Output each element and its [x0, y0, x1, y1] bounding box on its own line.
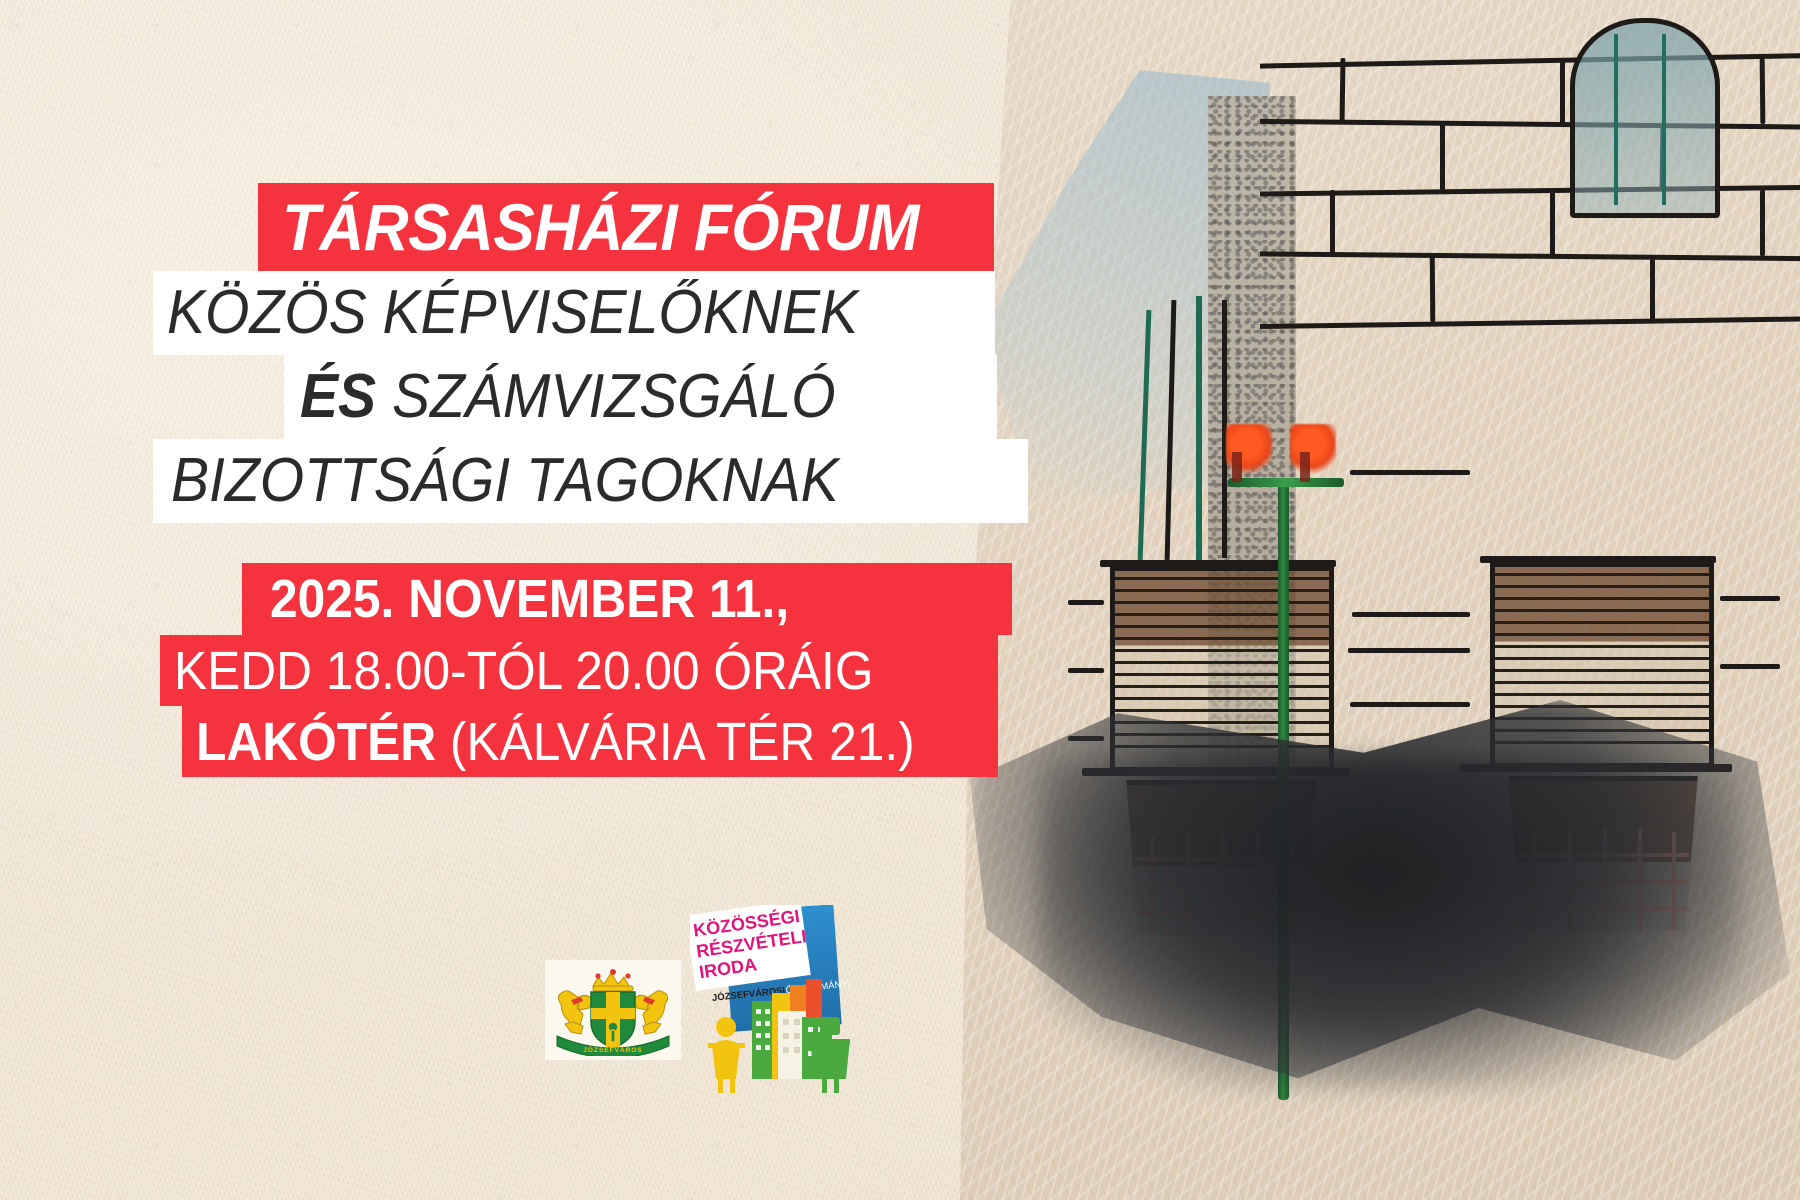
logo-row: JÓZSEFVÁROS KÖZ	[545, 905, 845, 1095]
jozsefvaros-crest-logo: JÓZSEFVÁROS	[545, 960, 681, 1060]
time-text: KEDD 18.00-TÓL 20.00 ÓRÁIG	[174, 644, 874, 698]
flower-pot-right	[1300, 452, 1310, 482]
crest-ribbon-text: JÓZSEFVÁROS	[583, 1045, 642, 1054]
subtitle-line-2-rest: SZÁMVIZSGÁLÓ	[376, 362, 836, 431]
time-banner: KEDD 18.00-TÓL 20.00 ÓRÁIG	[160, 635, 998, 706]
subtitle-line-3: BIZOTTSÁGI TAGOKNAK	[171, 450, 839, 512]
facade-stroke	[1350, 470, 1470, 475]
kri-logo: KÖZÖSSÉGI RÉSZVÉTELI IRODA JÓZSEFVÁROSI …	[690, 905, 850, 1095]
subtitle-line-2-bold: ÉS	[300, 362, 376, 431]
charcoal-smudge-core	[1040, 760, 1740, 1090]
date-text: 2025. NOVEMBER 11.,	[270, 572, 789, 626]
venue-address: (KÁLVÁRIA TÉR 21.)	[436, 712, 915, 772]
subtitle-line-1: KÖZÖS KÉPVISELŐKNEK	[167, 282, 858, 344]
facade-stroke	[1348, 648, 1470, 653]
facade-stroke	[1352, 612, 1470, 617]
facade-stroke	[1720, 664, 1780, 669]
venue-name: LAKÓTÉR	[196, 712, 436, 772]
poster-canvas: TÁRSASHÁZI FÓRUM KÖZÖS KÉPVISELŐKNEK ÉS …	[0, 0, 1800, 1200]
subtitle-banner-3: BIZOTTSÁGI TAGOKNAK	[153, 439, 1028, 523]
venue-text: LAKÓTÉR (KÁLVÁRIA TÉR 21.)	[196, 715, 915, 769]
window-mullion	[1196, 296, 1202, 562]
facade-stroke	[1350, 702, 1470, 707]
facade-stroke	[1068, 668, 1104, 673]
subtitle-line-2: ÉS SZÁMVIZSGÁLÓ	[300, 366, 836, 428]
flower-pot-left	[1232, 452, 1242, 482]
arched-window	[1570, 18, 1720, 218]
subtitle-banner-1: KÖZÖS KÉPVISELŐKNEK	[153, 271, 995, 355]
facade-stroke	[1720, 596, 1780, 601]
crest-icon: JÓZSEFVÁROS	[551, 964, 675, 1056]
headline-banner: TÁRSASHÁZI FÓRUM	[258, 183, 994, 271]
building-facade-illustration	[960, 0, 1800, 1200]
headline-text: TÁRSASHÁZI FÓRUM	[282, 194, 919, 260]
red-geranium-right	[1290, 424, 1336, 474]
venue-banner: LAKÓTÉR (KÁLVÁRIA TÉR 21.)	[182, 706, 998, 777]
date-banner: 2025. NOVEMBER 11.,	[242, 563, 1012, 635]
facade-stroke	[1068, 600, 1104, 605]
subtitle-banner-2: ÉS SZÁMVIZSGÁLÓ	[284, 355, 997, 439]
kri-logo-icon: KÖZÖSSÉGI RÉSZVÉTELI IRODA JÓZSEFVÁROSI …	[690, 905, 850, 1095]
lamp-post-arm	[1228, 478, 1344, 487]
